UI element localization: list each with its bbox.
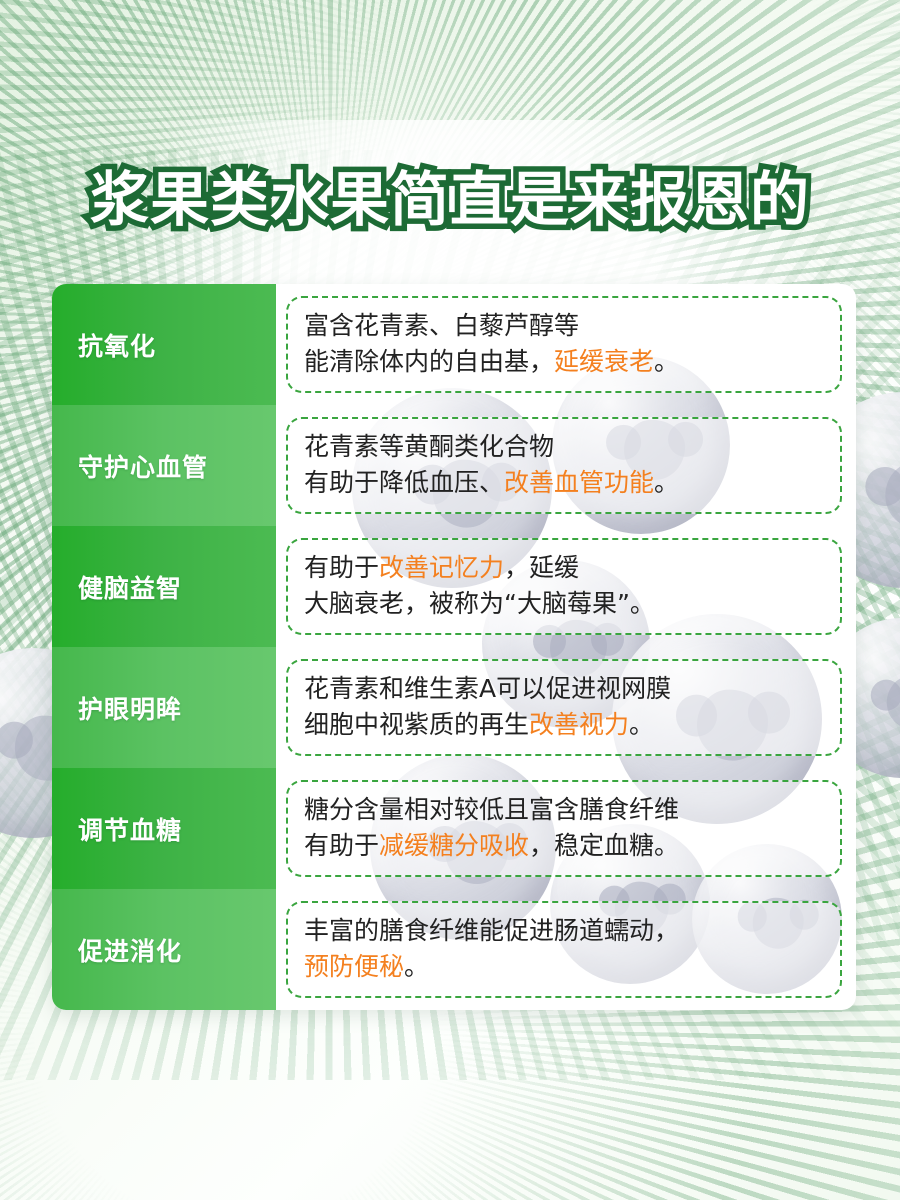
benefit-text: 花青素和维生素A可以促进视网膜 [304, 674, 671, 703]
benefit-text-line: 大脑衰老，被称为“大脑莓果”。 [304, 586, 826, 622]
benefit-row: 守护心血管花青素等黄酮类化合物有助于降低血压、改善血管功能。 [52, 405, 856, 526]
benefit-text-line: 细胞中视紫质的再生改善视力。 [304, 707, 826, 743]
benefit-text: 糖分含量相对较低且富含膳食纤维 [304, 795, 679, 824]
benefit-text-line: 预防便秘。 [304, 949, 826, 985]
benefit-dashed-box: 糖分含量相对较低且富含膳食纤维有助于减缓糖分吸收，稳定血糖。 [286, 780, 842, 877]
benefit-body: 花青素和维生素A可以促进视网膜细胞中视紫质的再生改善视力。 [276, 647, 856, 768]
benefit-label: 调节血糖 [52, 768, 276, 889]
benefit-row: 抗氧化富含花青素、白藜芦醇等能清除体内的自由基，延缓衰老。 [52, 284, 856, 405]
benefit-dashed-box: 花青素等黄酮类化合物有助于降低血压、改善血管功能。 [286, 417, 842, 514]
benefit-text-line: 有助于改善记忆力，延缓 [304, 550, 826, 586]
benefit-highlight-text: 延缓衰老 [554, 347, 654, 376]
benefit-highlight-text: 改善血管功能 [504, 468, 654, 497]
benefit-text-line: 有助于降低血压、改善血管功能。 [304, 465, 826, 501]
benefit-text: 有助于 [304, 831, 379, 860]
benefit-text: 有助于 [304, 553, 379, 582]
berry-crown-icon [885, 462, 900, 529]
benefit-label: 守护心血管 [52, 405, 276, 526]
benefit-text-line: 花青素和维生素A可以促进视网膜 [304, 671, 826, 707]
benefit-text-line: 有助于减缓糖分吸收，稳定血糖。 [304, 828, 826, 864]
benefit-label: 护眼明眸 [52, 647, 276, 768]
benefit-row: 促进消化丰富的膳食纤维能促进肠道蠕动，预防便秘。 [52, 889, 856, 1010]
benefit-highlight-text: 预防便秘 [304, 952, 404, 981]
benefit-text-line: 能清除体内的自由基，延缓衰老。 [304, 344, 826, 380]
benefit-text: 花青素等黄酮类化合物 [304, 432, 554, 461]
benefit-body: 糖分含量相对较低且富含膳食纤维有助于减缓糖分吸收，稳定血糖。 [276, 768, 856, 889]
benefits-card: 抗氧化富含花青素、白藜芦醇等能清除体内的自由基，延缓衰老。守护心血管花青素等黄酮… [52, 284, 856, 1010]
benefit-text: 能清除体内的自由基， [304, 347, 554, 376]
benefit-text: 丰富的膳食纤维能促进肠道蠕动， [304, 916, 679, 945]
benefit-text: 。 [654, 347, 679, 376]
benefit-highlight-text: 改善记忆力 [379, 553, 504, 582]
benefit-text: 。 [654, 468, 679, 497]
benefit-text-line: 丰富的膳食纤维能促进肠道蠕动， [304, 913, 826, 949]
benefit-row: 调节血糖糖分含量相对较低且富含膳食纤维有助于减缓糖分吸收，稳定血糖。 [52, 768, 856, 889]
benefit-dashed-box: 丰富的膳食纤维能促进肠道蠕动，预防便秘。 [286, 901, 842, 998]
benefit-dashed-box: 花青素和维生素A可以促进视网膜细胞中视紫质的再生改善视力。 [286, 659, 842, 756]
benefit-label: 健脑益智 [52, 526, 276, 647]
benefit-label: 促进消化 [52, 889, 276, 1010]
benefit-text: 有助于降低血压、 [304, 468, 504, 497]
benefit-body: 有助于改善记忆力，延缓大脑衰老，被称为“大脑莓果”。 [276, 526, 856, 647]
benefit-text-line: 糖分含量相对较低且富含膳食纤维 [304, 792, 826, 828]
benefit-text: 大脑衰老，被称为“大脑莓果”。 [304, 589, 655, 618]
benefit-text: ，稳定血糖。 [529, 831, 679, 860]
benefit-text-line: 富含花青素、白藜芦醇等 [304, 308, 826, 344]
benefit-dashed-box: 富含花青素、白藜芦醇等能清除体内的自由基，延缓衰老。 [286, 296, 842, 393]
benefit-row: 健脑益智有助于改善记忆力，延缓大脑衰老，被称为“大脑莓果”。 [52, 526, 856, 647]
berry-crown-icon [887, 675, 900, 729]
benefit-body: 花青素等黄酮类化合物有助于降低血压、改善血管功能。 [276, 405, 856, 526]
benefit-body: 富含花青素、白藜芦醇等能清除体内的自由基，延缓衰老。 [276, 284, 856, 405]
benefit-text: 富含花青素、白藜芦醇等 [304, 311, 579, 340]
benefit-highlight-text: 减缓糖分吸收 [379, 831, 529, 860]
benefit-label: 抗氧化 [52, 284, 276, 405]
benefit-text: 细胞中视紫质的再生 [304, 710, 529, 739]
benefit-body: 丰富的膳食纤维能促进肠道蠕动，预防便秘。 [276, 889, 856, 1010]
page-title-container: 浆果类水果简直是来报恩的 [0, 152, 900, 237]
benefit-dashed-box: 有助于改善记忆力，延缓大脑衰老，被称为“大脑莓果”。 [286, 538, 842, 635]
benefit-highlight-text: 改善视力 [529, 710, 629, 739]
benefit-text: ，延缓 [504, 553, 579, 582]
benefit-text: 。 [629, 710, 654, 739]
benefit-text: 。 [404, 952, 429, 981]
benefit-text-line: 花青素等黄酮类化合物 [304, 429, 826, 465]
benefit-row: 护眼明眸花青素和维生素A可以促进视网膜细胞中视紫质的再生改善视力。 [52, 647, 856, 768]
page-title: 浆果类水果简直是来报恩的 [90, 152, 810, 237]
poster-root: 浆果类水果简直是来报恩的 [0, 0, 900, 1200]
benefits-row-list: 抗氧化富含花青素、白藜芦醇等能清除体内的自由基，延缓衰老。守护心血管花青素等黄酮… [52, 284, 856, 1010]
